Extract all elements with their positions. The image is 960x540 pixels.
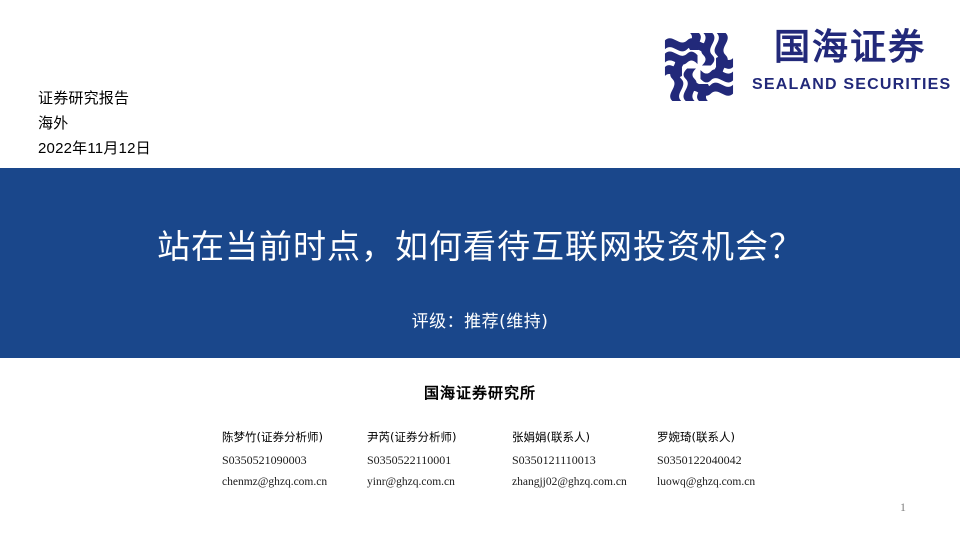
report-cover-slide: 证券研究报告 海外 2022年11月12日	[0, 0, 960, 540]
rating-label: 评级：推荐(维持)	[0, 310, 960, 334]
research-institute-label: 国海证券研究所	[0, 382, 960, 403]
report-title: 站在当前时点，如何看待互联网投资机会？	[0, 226, 960, 268]
page-number: 1	[880, 500, 926, 515]
analyst-name: 尹芮(证券分析师)	[367, 428, 512, 446]
analyst-email[interactable]: chenmz@ghzq.com.cn	[222, 474, 367, 491]
contact-card: 陈梦竹(证券分析师) S0350521090003 chenmz@ghzq.co…	[222, 428, 367, 491]
analyst-license-code: S0350521090003	[222, 452, 367, 469]
analyst-name: 罗婉琦(联系人)	[657, 428, 802, 446]
report-type-label: 证券研究报告	[38, 86, 151, 111]
analyst-email[interactable]: luowq@ghzq.com.cn	[657, 474, 802, 491]
contact-card: 尹芮(证券分析师) S0350522110001 yinr@ghzq.com.c…	[367, 428, 512, 491]
logo-company-cn: 国海证券	[752, 26, 948, 70]
sector-label: 海外	[38, 111, 151, 136]
analyst-name: 张娟娟(联系人)	[512, 428, 657, 446]
title-banner: 站在当前时点，如何看待互联网投资机会？ 评级：推荐(维持)	[0, 168, 960, 358]
analyst-license-code: S0350121110013	[512, 452, 657, 469]
sealand-pinwheel-icon	[662, 30, 736, 104]
header-meta-block: 证券研究报告 海外 2022年11月12日	[38, 86, 151, 161]
analyst-name: 陈梦竹(证券分析师)	[222, 428, 367, 446]
logo-wordmark: 国海证券 SEALAND SECURITIES	[752, 26, 948, 96]
company-logo: 国海证券 SEALAND SECURITIES	[662, 26, 946, 110]
analyst-email[interactable]: yinr@ghzq.com.cn	[367, 474, 512, 491]
analyst-license-code: S0350122040042	[657, 452, 802, 469]
analyst-contacts: 陈梦竹(证券分析师) S0350521090003 chenmz@ghzq.co…	[222, 428, 782, 491]
analyst-email[interactable]: zhangjj02@ghzq.com.cn	[512, 474, 657, 491]
analyst-license-code: S0350522110001	[367, 452, 512, 469]
report-date: 2022年11月12日	[38, 136, 151, 161]
contact-card: 张娟娟(联系人) S0350121110013 zhangjj02@ghzq.c…	[512, 428, 657, 491]
logo-company-en: SEALAND SECURITIES	[752, 74, 948, 96]
contact-card: 罗婉琦(联系人) S0350122040042 luowq@ghzq.com.c…	[657, 428, 802, 491]
